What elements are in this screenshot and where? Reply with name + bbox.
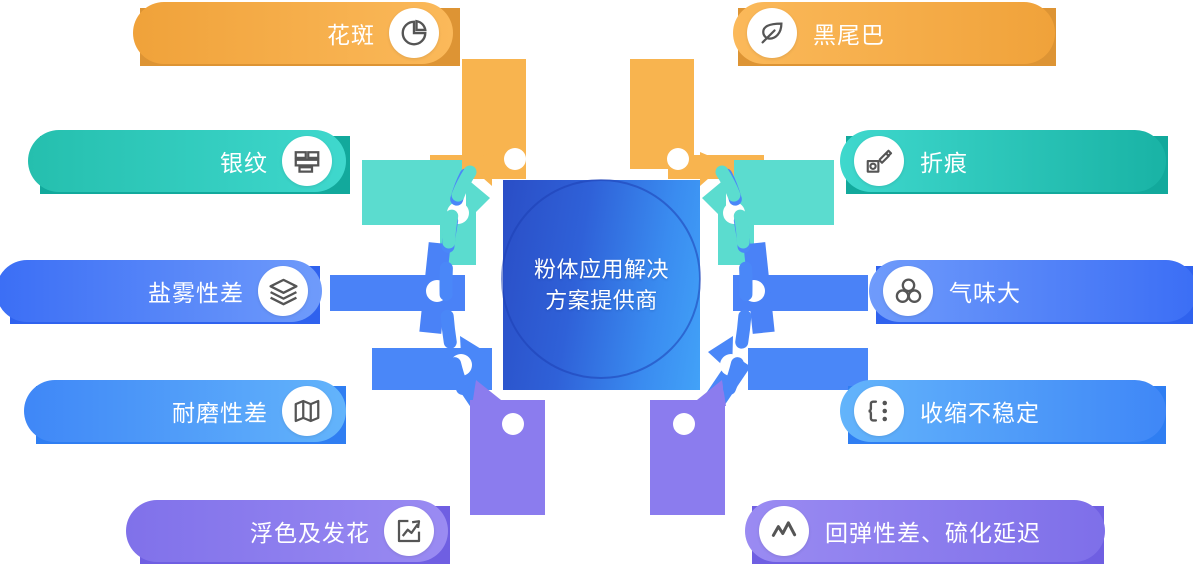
leaf-icon [747,8,797,58]
connector-dot-blue2-right [720,354,742,376]
connector-arrow-teal-right [702,178,726,222]
connector-block-blue-right [733,275,868,311]
connector-block-orange-right-foot [668,155,764,179]
connector-block-blue2-left-stem [443,354,490,409]
pill-label-yan-wu-xing-cha: 盐雾性差 [148,274,244,308]
connector-block-orange-left [462,59,526,169]
connector-dot-blue-left [426,280,448,302]
pill-qi-wei-da[interactable]: 气味大 [869,260,1193,322]
puzzle-icon [854,136,904,186]
connector-dot-blue2-left [450,354,472,376]
pill-label-hua-ban: 花斑 [327,16,375,50]
connector-arrow-teal-left [466,178,490,222]
connector-arc-left [446,175,468,400]
pill-label-yin-wen: 银纹 [220,144,268,178]
infographic-canvas: 粉体应用解决 方案提供商 花斑 银纹 盐雾性差 [0,0,1193,577]
connector-block-purple-right [650,400,725,515]
connector-block-blue2-left [372,348,492,390]
connector-arrow-orange-right [700,152,726,186]
connector-dot-orange-right [667,148,689,170]
connector-block-teal-right-tail [718,210,754,265]
center-node: 粉体应用解决 方案提供商 [503,180,700,390]
connector-block-blue-right-stem [743,242,774,334]
connector-block-orange-right [630,59,694,169]
connector-arrow-blue2-right [708,336,733,374]
center-label: 粉体应用解决 方案提供商 [534,254,669,316]
layers-icon [258,266,308,316]
connector-block-blue2-right-stem [703,354,750,409]
connector-block-teal-right [734,160,834,225]
connector-block-blue-left [330,275,465,311]
connector-arc-left-teal [449,172,470,260]
connector-block-blue2-right [748,348,868,390]
pill-yin-wen[interactable]: 银纹 [28,130,346,192]
pill-label-nai-mo-xing-cha: 耐磨性差 [172,394,268,428]
map-icon [282,386,332,436]
pill-yan-wu-xing-cha[interactable]: 盐雾性差 [0,260,322,322]
connector-arrow-orange-left [466,152,492,186]
trend-box-icon [384,506,434,556]
connector-dot-purple-right [673,413,695,435]
connector-dot-blue-right [743,280,765,302]
pill-label-hei-wei-ba: 黑尾巴 [813,16,885,50]
connector-arc-right-teal [722,172,743,260]
connector-dot-teal-left [447,202,469,224]
connector-arrow-purple-left [472,380,506,406]
connector-arc-right [724,175,746,400]
brick-wall-icon [282,136,332,186]
pill-label-shou-suo-bu-wen-ding: 收缩不稳定 [920,394,1040,428]
pie-chart-icon [389,8,439,58]
connector-dot-teal-right [723,202,745,224]
pill-shou-suo-bu-wen-ding[interactable]: 收缩不稳定 [840,380,1166,442]
line-chart-icon [759,506,809,556]
pill-hui-tan-xing-cha[interactable]: 回弹性差、硫化延迟 [745,500,1105,562]
connector-block-orange-left-foot [430,155,526,179]
connector-arrow-blue2-left [460,336,486,374]
connector-block-teal-left-tail [440,210,476,265]
connector-block-blue-left-stem [419,242,450,334]
connector-block-purple-left [470,400,545,515]
pill-label-zhe-hen: 折痕 [920,144,968,178]
pill-fu-se-fa-hua[interactable]: 浮色及发花 [126,500,448,562]
pill-label-qi-wei-da: 气味大 [949,274,1021,308]
pill-hei-wei-ba[interactable]: 黑尾巴 [733,2,1055,64]
pill-label-fu-se-fa-hua: 浮色及发花 [250,514,370,548]
connector-block-teal-left [362,160,462,225]
connector-dot-purple-left [502,413,524,435]
recycle-icon [883,266,933,316]
pill-zhe-hen[interactable]: 折痕 [840,130,1166,192]
connector-dot-orange-left [504,148,526,170]
pill-nai-mo-xing-cha[interactable]: 耐磨性差 [24,380,346,442]
sitemap-icon [854,386,904,436]
pill-hua-ban[interactable]: 花斑 [133,2,453,64]
pill-label-hui-tan-xing-cha: 回弹性差、硫化延迟 [825,514,1041,548]
